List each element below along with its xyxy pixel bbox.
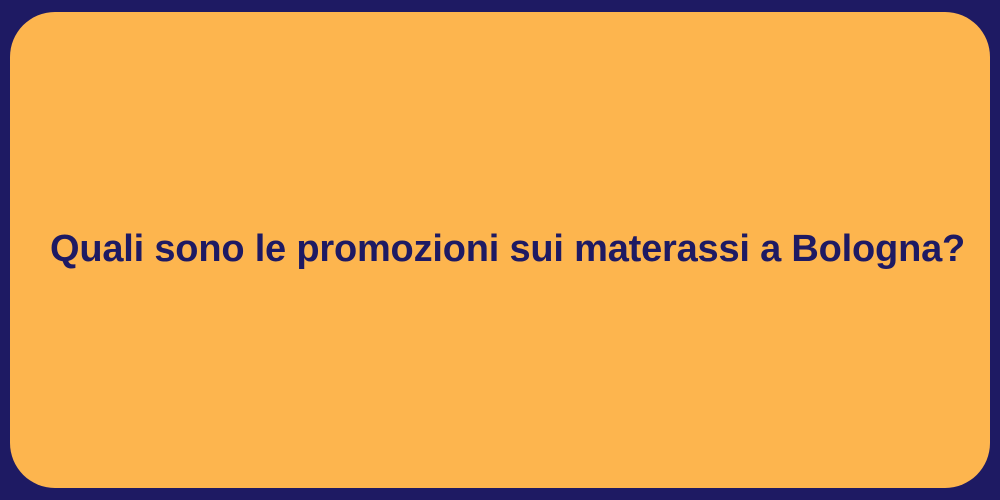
banner-root: Quali sono le promozioni sui materassi a… — [0, 0, 1000, 500]
banner-headline: Quali sono le promozioni sui materassi a… — [10, 226, 990, 274]
banner-card: Quali sono le promozioni sui materassi a… — [10, 12, 990, 488]
